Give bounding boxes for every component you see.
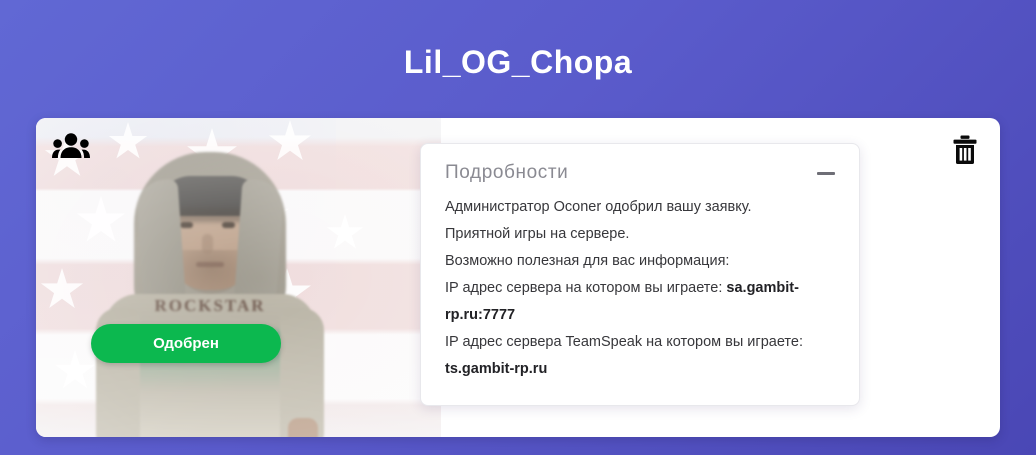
details-line-text: IP адрес сервера TeamSpeak на котором вы… xyxy=(445,334,803,350)
details-line: IP адрес сервера TeamSpeak на котором вы… xyxy=(445,329,835,383)
details-line-text: Администратор Oconer одобрил вашу заявку… xyxy=(445,199,752,215)
details-panel: Подробности Администратор Oconer одобрил… xyxy=(420,143,860,406)
trash-icon[interactable] xyxy=(952,135,978,165)
users-group-icon[interactable] xyxy=(52,132,90,160)
details-panel-header: Подробности xyxy=(445,162,835,184)
minimize-icon[interactable] xyxy=(817,172,835,175)
teamspeak-address-value: ts.gambit-rp.ru xyxy=(445,361,547,377)
details-line-text: Приятной игры на сервере. xyxy=(445,226,629,242)
details-line: Администратор Oconer одобрил вашу заявку… xyxy=(445,194,835,221)
details-line-text: Возможно полезная для вас информация: xyxy=(445,253,729,269)
character-artwork: ROCKSTAR xyxy=(36,118,441,437)
details-line-text: IP адрес сервера на котором вы играете: xyxy=(445,280,726,296)
details-line: Приятной игры на сервере. xyxy=(445,221,835,248)
details-panel-title: Подробности xyxy=(445,162,568,184)
page-title: Lil_OG_Chopa xyxy=(0,40,1036,84)
details-line: IP адрес сервера на котором вы играете: … xyxy=(445,275,835,329)
application-card: ROCKSTAR Одобрен Подробности xyxy=(36,118,1000,437)
image-haze-overlay xyxy=(36,118,441,437)
status-badge: Одобрен xyxy=(91,324,281,363)
details-line: Возможно полезная для вас информация: xyxy=(445,248,835,275)
